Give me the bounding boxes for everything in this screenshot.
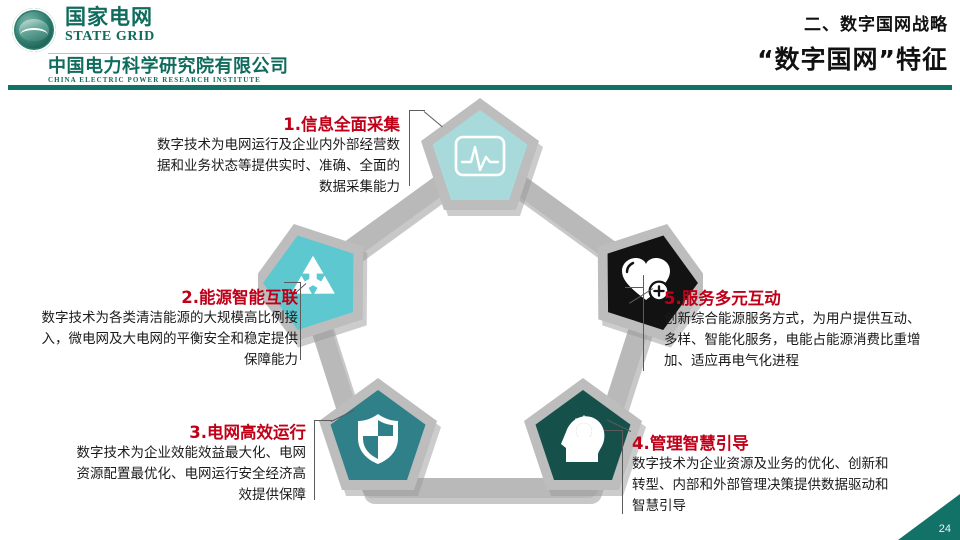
connector-4-vertical xyxy=(622,430,623,514)
brand-name-en: STATE GRID xyxy=(65,29,155,45)
brand-text: 国家电网 STATE GRID xyxy=(65,6,155,45)
feature-block-2: 2.能源智能互联 数字技术为各类清洁能源的大规模高比例接入，微电网及大电网的平衡… xyxy=(36,287,298,371)
connector-5-top xyxy=(625,287,644,288)
feature-body-1: 数字技术为电网运行及企业内外部经营数据和业务状态等提供实时、准确、全面的数据采集… xyxy=(150,135,400,198)
connector-3-top xyxy=(314,420,332,421)
feature-title-5: 5.服务多元互动 xyxy=(664,288,926,309)
feature-title-1: 1.信息全面采集 xyxy=(150,114,400,135)
connector-1-vertical xyxy=(409,110,410,186)
feature-block-1: 1.信息全面采集 数字技术为电网运行及企业内外部经营数据和业务状态等提供实时、准… xyxy=(150,114,400,198)
connector-2-top xyxy=(284,282,301,283)
feature-body-5: 创新综合能源服务方式，为用户提供互动、多样、智能化服务，电能占能源消费比重增加、… xyxy=(664,309,926,372)
slide-header: 国家电网 STATE GRID 中国电力科学研究院有限公司 CHINA ELEC… xyxy=(0,0,960,86)
feature-block-5: 5.服务多元互动 创新综合能源服务方式，为用户提供互动、多样、智能化服务，电能占… xyxy=(664,288,926,372)
feature-title-2: 2.能源智能互联 xyxy=(36,287,298,308)
institute-name-en: CHINA ELECTRIC POWER RESEARCH INSTITUTE xyxy=(48,76,261,84)
connector-4-top xyxy=(604,430,623,431)
feature-body-3: 数字技术为企业效能效益最大化、电网资源配置最优化、电网运行安全经济高效提供保障 xyxy=(66,443,306,506)
feature-body-2: 数字技术为各类清洁能源的大规模高比例接入，微电网及大电网的平衡安全和稳定提供保障… xyxy=(36,308,298,371)
state-grid-globe-logo-icon xyxy=(12,8,56,52)
connector-3-vertical xyxy=(314,420,315,500)
feature-body-4: 数字技术为企业资源及业务的优化、创新和转型、内部和外部管理决策提供数据驱动和智慧… xyxy=(632,454,900,517)
institute-name-cn: 中国电力科学研究院有限公司 xyxy=(48,56,289,78)
feature-block-4: 4.管理智慧引导 数字技术为企业资源及业务的优化、创新和转型、内部和外部管理决策… xyxy=(632,433,900,517)
section-label: 二、数字国网战略 xyxy=(804,10,948,35)
feature-title-4: 4.管理智慧引导 xyxy=(632,433,900,454)
page-title: “数字国网”特征 xyxy=(757,40,948,76)
connector-2-vertical xyxy=(300,282,301,360)
connector-1-top xyxy=(409,110,425,111)
brand-logo: 国家电网 STATE GRID xyxy=(12,6,155,52)
brand-name-cn: 国家电网 xyxy=(65,6,155,29)
connector-5-vertical xyxy=(643,275,644,371)
page-number: 24 xyxy=(939,523,951,535)
feature-block-3: 3.电网高效运行 数字技术为企业效能效益最大化、电网资源配置最优化、电网运行安全… xyxy=(66,422,306,506)
header-divider xyxy=(48,53,270,54)
slide-body: 1.信息全面采集 数字技术为电网运行及企业内外部经营数据和业务状态等提供实时、准… xyxy=(0,90,960,540)
feature-title-3: 3.电网高效运行 xyxy=(66,422,306,443)
